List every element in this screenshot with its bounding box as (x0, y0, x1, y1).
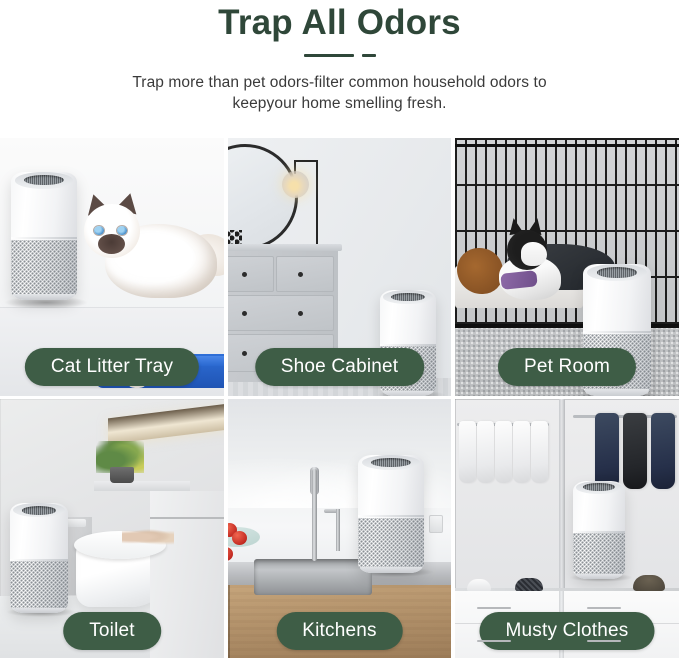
drawer-knob (298, 311, 303, 316)
drawer-handle (587, 607, 621, 609)
white-cap (467, 579, 491, 591)
closet-divider-post (559, 399, 565, 591)
lamp-arm (294, 160, 318, 162)
scenario-grid: Cat Litter Tray (0, 138, 679, 658)
hanging-shirt (513, 421, 530, 483)
drawer-knob (242, 311, 247, 316)
tile-badge-pet-room[interactable]: Pet Room (498, 348, 636, 386)
dog-face-blaze (521, 242, 547, 266)
cat-muzzle (98, 234, 125, 254)
air-purifier (573, 481, 625, 579)
kitchen-sink (254, 559, 372, 595)
cat-eye-left (94, 226, 104, 235)
scenario-tile-cat-litter-tray[interactable]: Cat Litter Tray (0, 138, 224, 396)
air-purifier (11, 172, 77, 300)
potted-plant-pot (110, 467, 134, 483)
cat-eye-right (117, 226, 127, 235)
plush-toy (457, 248, 503, 294)
drawer-knob (242, 351, 247, 356)
tile-badge-shoe-cabinet[interactable]: Shoe Cabinet (255, 348, 425, 386)
tile-badge-kitchens[interactable]: Kitchens (276, 612, 402, 650)
hanging-jacket (651, 413, 675, 489)
scenario-tile-shoe-cabinet[interactable]: Shoe Cabinet (228, 138, 451, 396)
decor-shells (122, 529, 174, 545)
lamp-pole (316, 160, 318, 248)
drawer-top-right (276, 256, 334, 292)
wall-outlet (429, 515, 443, 533)
faucet-column (312, 469, 317, 561)
tile-badge-musty-clothes[interactable]: Musty Clothes (480, 612, 655, 650)
hanging-shirt (459, 421, 476, 483)
tile-badge-toilet[interactable]: Toilet (63, 612, 161, 650)
divider (0, 44, 679, 66)
tile-badge-cat-litter-tray[interactable]: Cat Litter Tray (25, 348, 199, 386)
scenario-tile-toilet[interactable]: Toilet (0, 399, 224, 658)
lamp-bulb (282, 171, 309, 198)
dresser-top (228, 244, 342, 251)
plaid-cap (515, 578, 543, 591)
drawer-top-left (228, 256, 274, 292)
page-title: Trap All Odors (0, 2, 679, 44)
scenario-tile-pet-room[interactable]: Pet Room (455, 138, 679, 396)
air-purifier (10, 503, 68, 613)
divider-dash-short (362, 54, 376, 57)
hanging-shirt (495, 421, 512, 483)
hanging-shirt (477, 421, 494, 483)
faucet-side-sprayer (336, 509, 340, 551)
drawer-handle (477, 607, 511, 609)
scenario-tile-kitchens[interactable]: Kitchens (228, 399, 451, 658)
crate-frame-top (455, 144, 679, 147)
hanging-shirt (531, 421, 548, 483)
drawer-knob (298, 272, 303, 277)
air-purifier (358, 455, 424, 573)
scenario-tile-musty-clothes[interactable]: Musty Clothes (455, 399, 679, 658)
drawer-knob (242, 272, 247, 277)
tomato (232, 531, 247, 545)
hanging-jacket (595, 413, 619, 489)
header: Trap All Odors Trap more than pet odors-… (0, 0, 679, 114)
product-infographic: Trap All Odors Trap more than pet odors-… (0, 0, 679, 658)
wall-ledge (94, 481, 190, 491)
bucket-hat (633, 575, 665, 591)
divider-dash-long (304, 54, 354, 57)
hanging-jacket (623, 413, 647, 489)
vanity-seam (150, 517, 224, 519)
page-subtitle: Trap more than pet odors-filter common h… (105, 72, 575, 114)
